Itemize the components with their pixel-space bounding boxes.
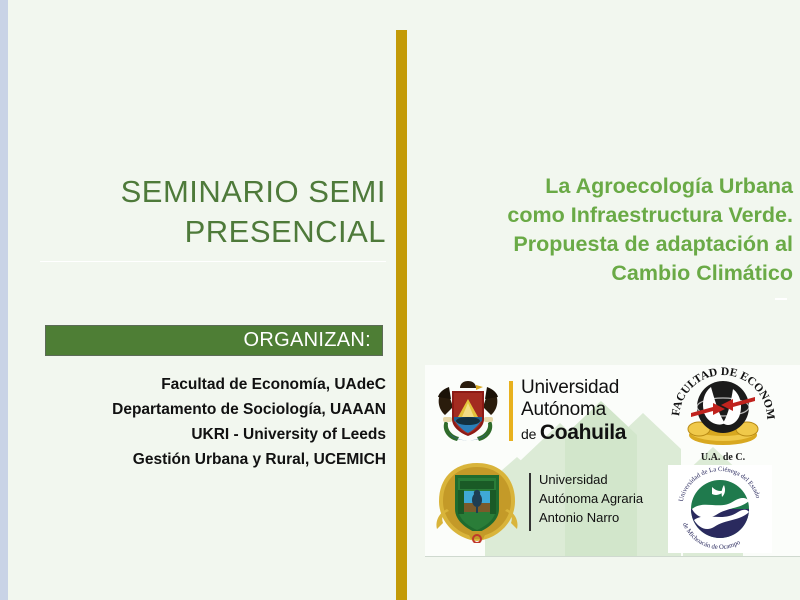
seminar-heading-line-1: SEMINARIO SEMI xyxy=(28,172,386,212)
seminar-heading: SEMINARIO SEMI PRESENCIAL xyxy=(28,172,386,253)
uaaan-word-line-1: Universidad xyxy=(539,471,643,490)
facultad-de-economia-logo: FACULTAD DE ECONOMIA U.A. de C. xyxy=(663,365,783,463)
organizan-banner: ORGANIZAN: xyxy=(45,325,383,356)
uadec-eagle-crest-icon xyxy=(435,377,501,445)
facultad-de-economia-caption: U.A. de C. xyxy=(663,452,783,463)
organizers-list: Facultad de Economía, UAdeC Departamento… xyxy=(28,372,386,472)
uaaan-wordmark: Universidad Autónoma Agraria Antonio Nar… xyxy=(539,471,643,528)
presentation-slide: SEMINARIO SEMI PRESENCIAL ORGANIZAN: Fac… xyxy=(0,0,800,600)
list-item: UKRI - University of Leeds xyxy=(28,422,386,447)
list-item: Facultad de Economía, UAdeC xyxy=(28,372,386,397)
talk-title-line-2: como Infraestructura Verde. xyxy=(415,201,793,230)
uadec-word-de: de xyxy=(521,426,540,442)
left-edge-accent-strip xyxy=(0,0,8,600)
uaaan-word-line-2: Autónoma Agraria xyxy=(539,490,643,509)
title-dash-marker xyxy=(775,298,787,300)
organizan-label: ORGANIZAN: xyxy=(244,329,371,352)
talk-title-line-3: Propuesta de adaptación al xyxy=(415,230,793,259)
talk-title: La Agroecología Urbana como Infraestruct… xyxy=(415,172,793,288)
talk-title-line-4: Cambio Climático xyxy=(415,259,793,288)
list-item: Departamento de Sociología, UAAAN xyxy=(28,397,386,422)
left-content-panel: SEMINARIO SEMI PRESENCIAL ORGANIZAN: Fac… xyxy=(8,0,396,600)
uaaan-divider-rule xyxy=(529,473,531,531)
logos-panel: Universidad Autónoma de Coahuila xyxy=(425,365,800,557)
ucemich-circular-logo-icon: Universidad de La Ciénega del Estado de … xyxy=(668,465,772,553)
uadec-wordmark: Universidad Autónoma de Coahuila xyxy=(521,377,626,445)
facultad-de-economia-seal-icon: FACULTAD DE ECONOMIA xyxy=(663,365,783,455)
logos-panel-underline xyxy=(425,556,800,557)
uadec-word-line-3: de Coahuila xyxy=(521,421,626,445)
uaaan-word-line-3: Antonio Narro xyxy=(539,509,643,528)
seminar-heading-line-2: PRESENCIAL xyxy=(28,212,386,252)
list-item: Gestión Urbana y Rural, UCEMICH xyxy=(28,447,386,472)
heading-underline-rule xyxy=(40,261,386,262)
gold-vertical-divider xyxy=(396,30,407,600)
uaaan-logo: Universidad Autónoma Agraria Antonio Nar… xyxy=(433,461,673,547)
uadec-word-line-1: Universidad xyxy=(521,377,626,399)
uaaan-shield-crest-icon xyxy=(433,461,521,543)
uadec-divider-rule xyxy=(509,381,513,441)
uadec-logo: Universidad Autónoma de Coahuila xyxy=(435,373,665,451)
ucemich-logo: Universidad de La Ciénega del Estado de … xyxy=(668,465,772,553)
uadec-word-line-2: Autónoma xyxy=(521,399,626,421)
uadec-word-coahuila: Coahuila xyxy=(540,421,626,444)
talk-title-line-1: La Agroecología Urbana xyxy=(415,172,793,201)
